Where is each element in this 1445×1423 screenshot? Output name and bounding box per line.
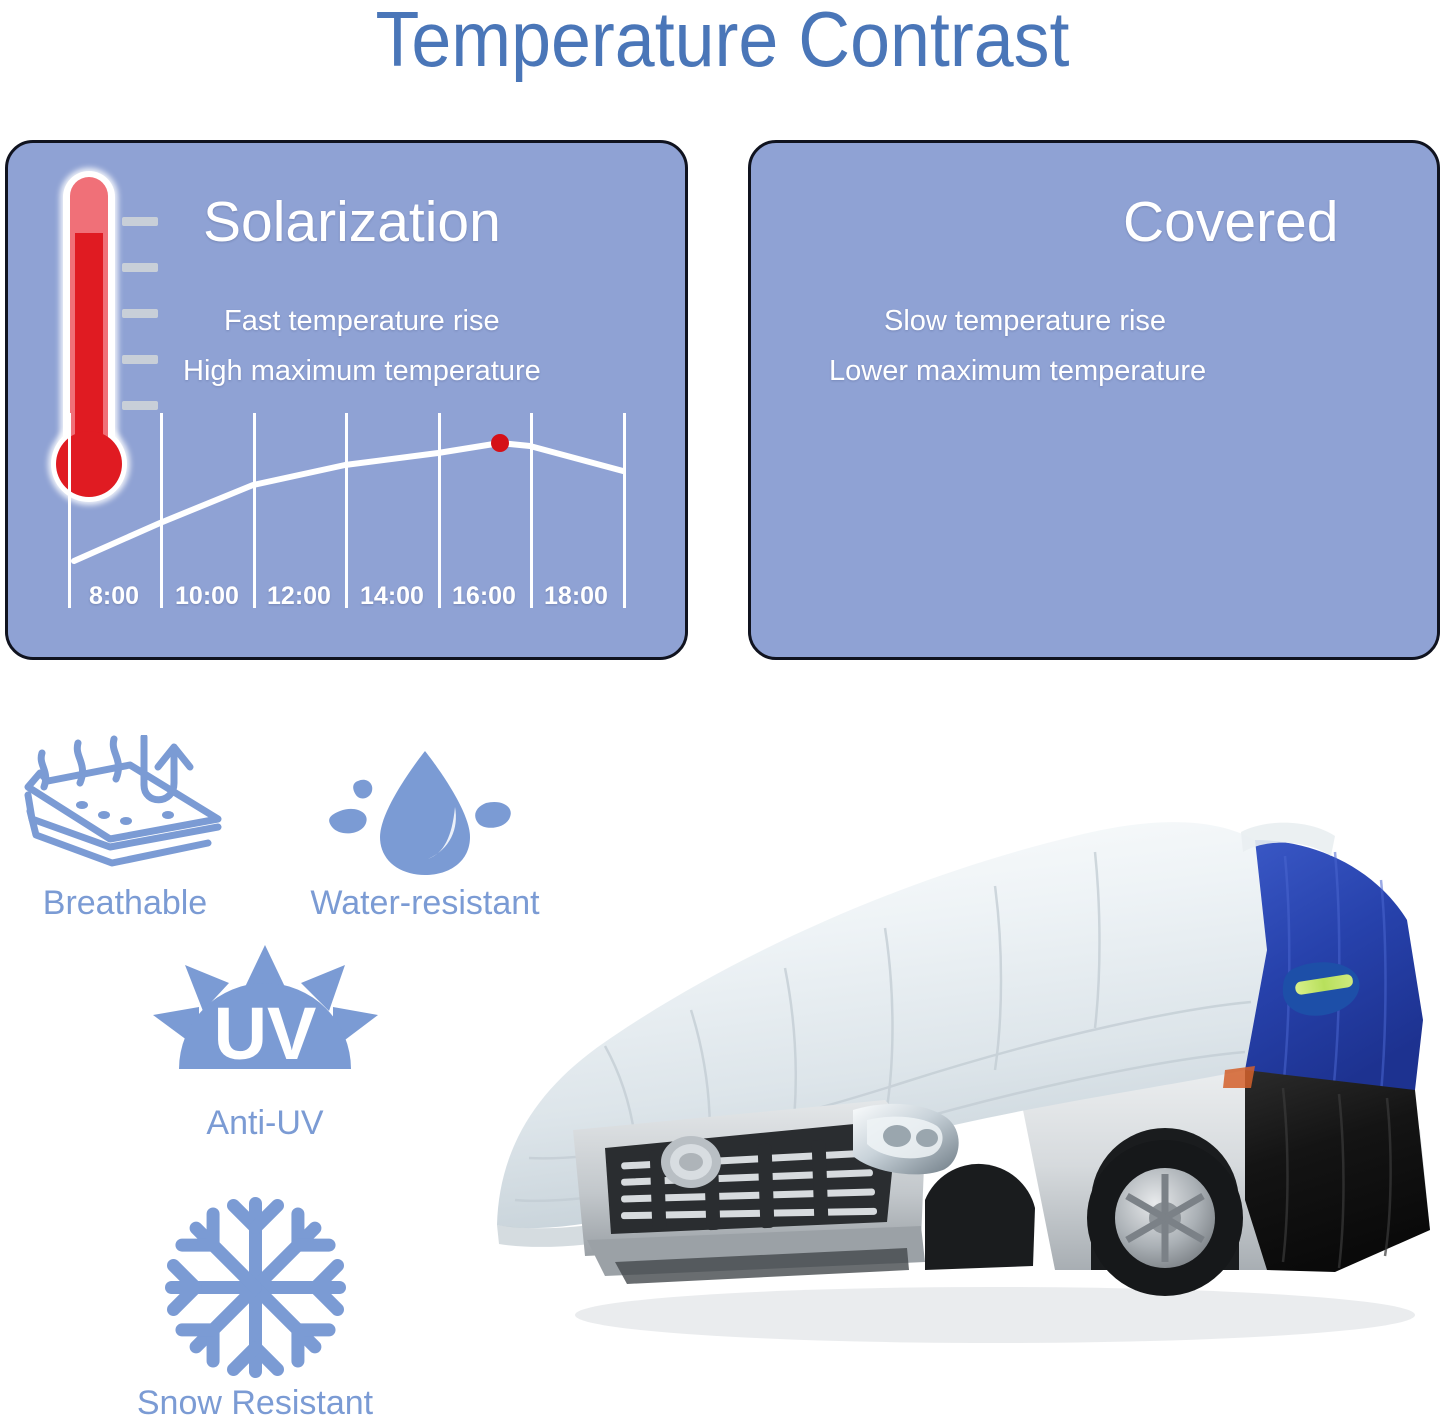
breathable-fabric-icon xyxy=(18,735,233,880)
x-tick-1200: 12:00 xyxy=(267,582,331,611)
snowflake-icon xyxy=(163,1195,348,1380)
panel-subtext-high-max: High maximum temperature xyxy=(183,355,541,388)
panel-subtext-fast-rise: Fast temperature rise xyxy=(224,305,500,338)
x-tick-1400: 14:00 xyxy=(360,582,424,611)
panel-heading-solarization: Solarization xyxy=(203,189,501,255)
x-tick-1000: 10:00 xyxy=(175,582,239,611)
solarization-chart: 8:00 10:00 12:00 14:00 16:00 18:00 xyxy=(68,413,648,643)
car-shadow xyxy=(575,1287,1415,1343)
panel-covered: Covered Slow temperature rise Lower maxi… xyxy=(748,140,1440,660)
feature-breathable: Breathable xyxy=(10,735,240,923)
panel-heading-covered: Covered xyxy=(1123,189,1338,255)
feature-label-snow-resistant: Snow Resistant xyxy=(110,1384,400,1423)
sun-uv-icon: UV xyxy=(153,945,378,1100)
front-wheel-arch xyxy=(925,1164,1035,1270)
x-tick-0800: 8:00 xyxy=(89,582,139,611)
feature-label-anti-uv: Anti-UV xyxy=(130,1104,400,1143)
x-tick-1600: 16:00 xyxy=(452,582,516,611)
feature-snow-resistant: Snow Resistant xyxy=(110,1195,400,1423)
suv-with-car-cover xyxy=(455,770,1445,1360)
x-tick-1800: 18:00 xyxy=(544,582,608,611)
panel-solarization: Solarization Fast temperature rise High … xyxy=(5,140,688,660)
panel-subtext-slow-rise: Slow temperature rise xyxy=(884,305,1166,338)
cover-black-skirt xyxy=(1245,1070,1430,1272)
uv-badge-text: UV xyxy=(213,992,316,1075)
feature-anti-uv: UV Anti-UV xyxy=(130,945,400,1143)
peak-marker-hot xyxy=(491,434,509,452)
page-title: Temperature Contrast xyxy=(58,0,1387,85)
comparison-panels: Solarization Fast temperature rise High … xyxy=(0,140,1445,665)
panel-subtext-lower-max: Lower maximum temperature xyxy=(829,355,1206,388)
feature-label-breathable: Breathable xyxy=(10,884,240,923)
